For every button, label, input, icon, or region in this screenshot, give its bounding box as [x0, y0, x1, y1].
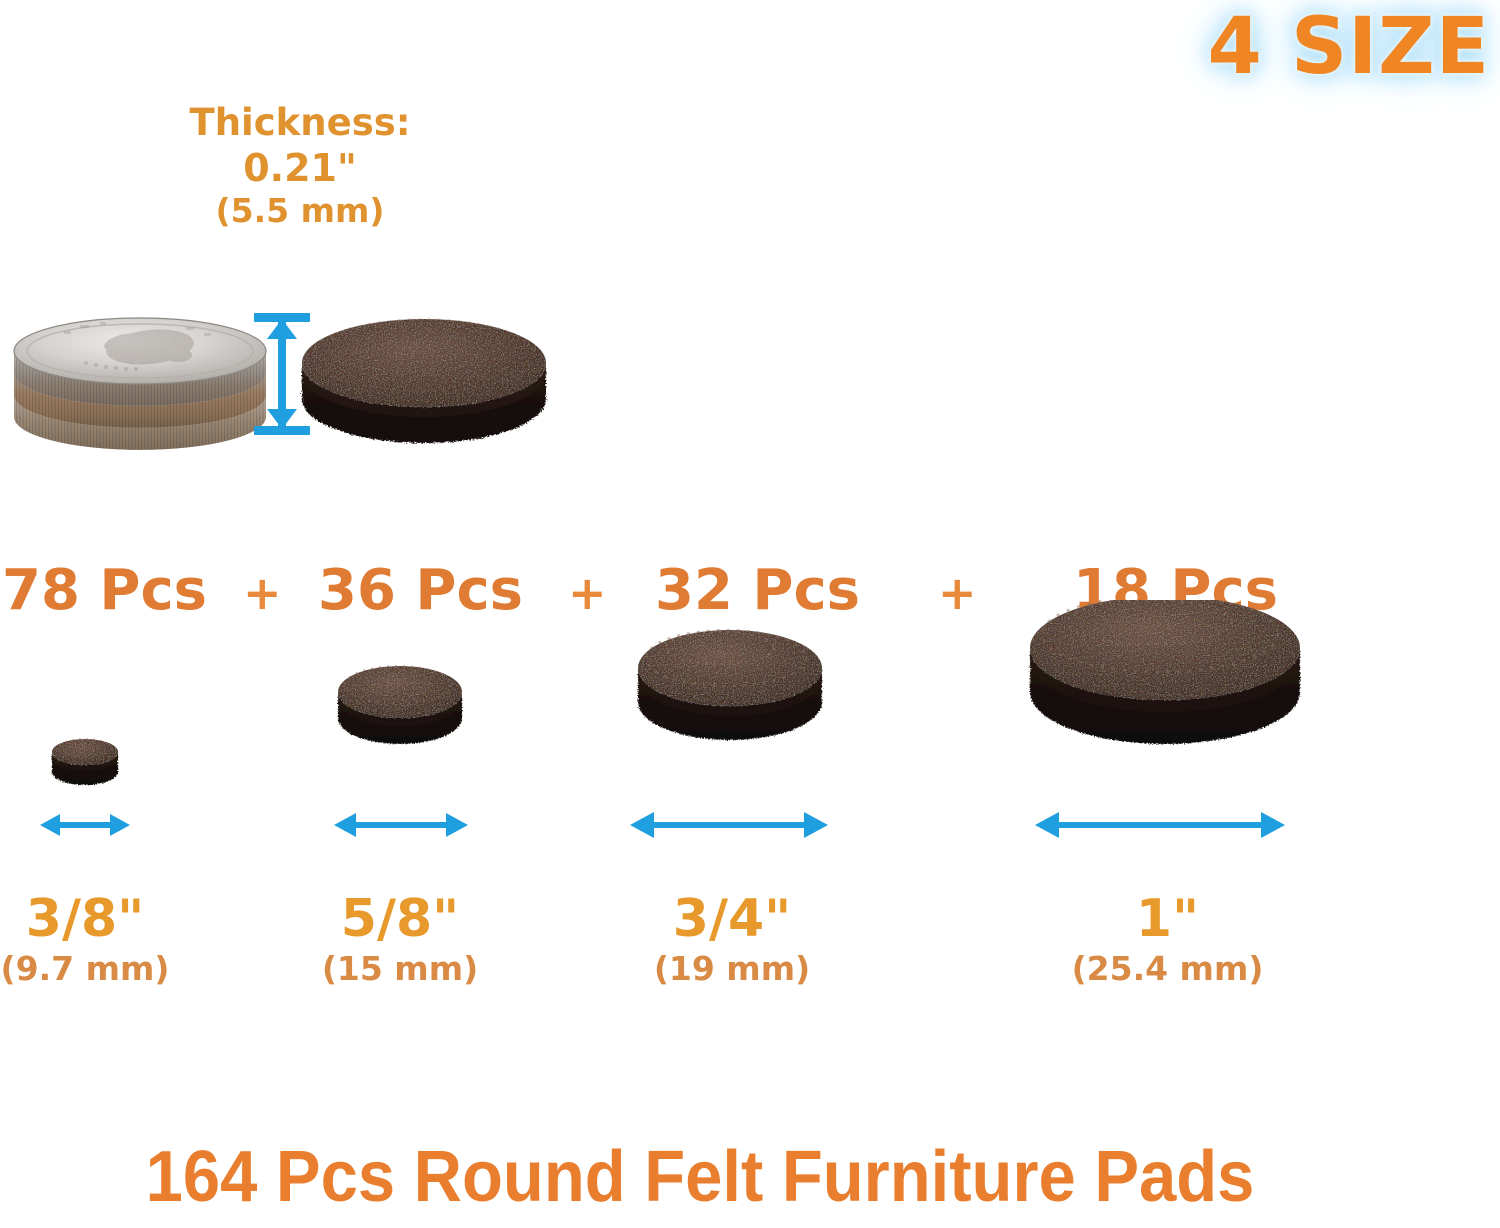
infographic-canvas: 4 SIZE Thickness: 0.21" (5.5 mm) — [0, 0, 1500, 1228]
us-quarter-coin-stack — [14, 318, 266, 450]
diameter-arrow-3-8-inch — [40, 814, 130, 836]
size-millimeters-1: (15 mm) — [300, 948, 500, 991]
size-millimeters-0: (9.7 mm) — [0, 948, 180, 991]
felt-pad-1-inch — [1030, 600, 1300, 744]
thickness-caption: Thickness: 0.21" (5.5 mm) — [150, 100, 450, 232]
size-cell-1: 5/8" (15 mm) — [300, 890, 500, 991]
size-cell-3: 1" (25.4 mm) — [1055, 890, 1280, 991]
size-millimeters-2: (19 mm) — [632, 948, 832, 991]
size-inches-1: 5/8" — [300, 890, 500, 948]
felt-pads-row — [0, 600, 1500, 890]
thickness-millimeters: (5.5 mm) — [150, 191, 450, 231]
diameter-arrow-1-inch — [1035, 812, 1285, 838]
thickness-inches: 0.21" — [150, 145, 450, 191]
thickness-label: Thickness: — [150, 100, 450, 145]
felt-pad-side-view — [302, 319, 546, 443]
felt-pad-5-8-inch — [338, 666, 462, 744]
diameter-arrow-3-4-inch — [630, 812, 828, 838]
size-cell-0: 3/8" (9.7 mm) — [0, 890, 180, 991]
felt-pad-3-4-inch — [638, 630, 822, 740]
thickness-comparison-photo — [0, 285, 580, 470]
size-inches-0: 3/8" — [0, 890, 180, 948]
size-label-row: 3/8" (9.7 mm) 5/8" (15 mm) 3/4" (19 mm) … — [0, 890, 1340, 1010]
size-inches-3: 1" — [1055, 890, 1280, 948]
product-title: 164 Pcs Round Felt Furniture Pads — [49, 1140, 1351, 1216]
size-inches-2: 3/4" — [632, 890, 832, 948]
size-millimeters-3: (25.4 mm) — [1055, 948, 1280, 991]
size-cell-2: 3/4" (19 mm) — [632, 890, 832, 991]
four-size-badge: 4 SIZE — [1140, 8, 1490, 86]
diameter-arrow-5-8-inch — [334, 813, 468, 837]
felt-pad-3-8-inch — [52, 739, 118, 785]
